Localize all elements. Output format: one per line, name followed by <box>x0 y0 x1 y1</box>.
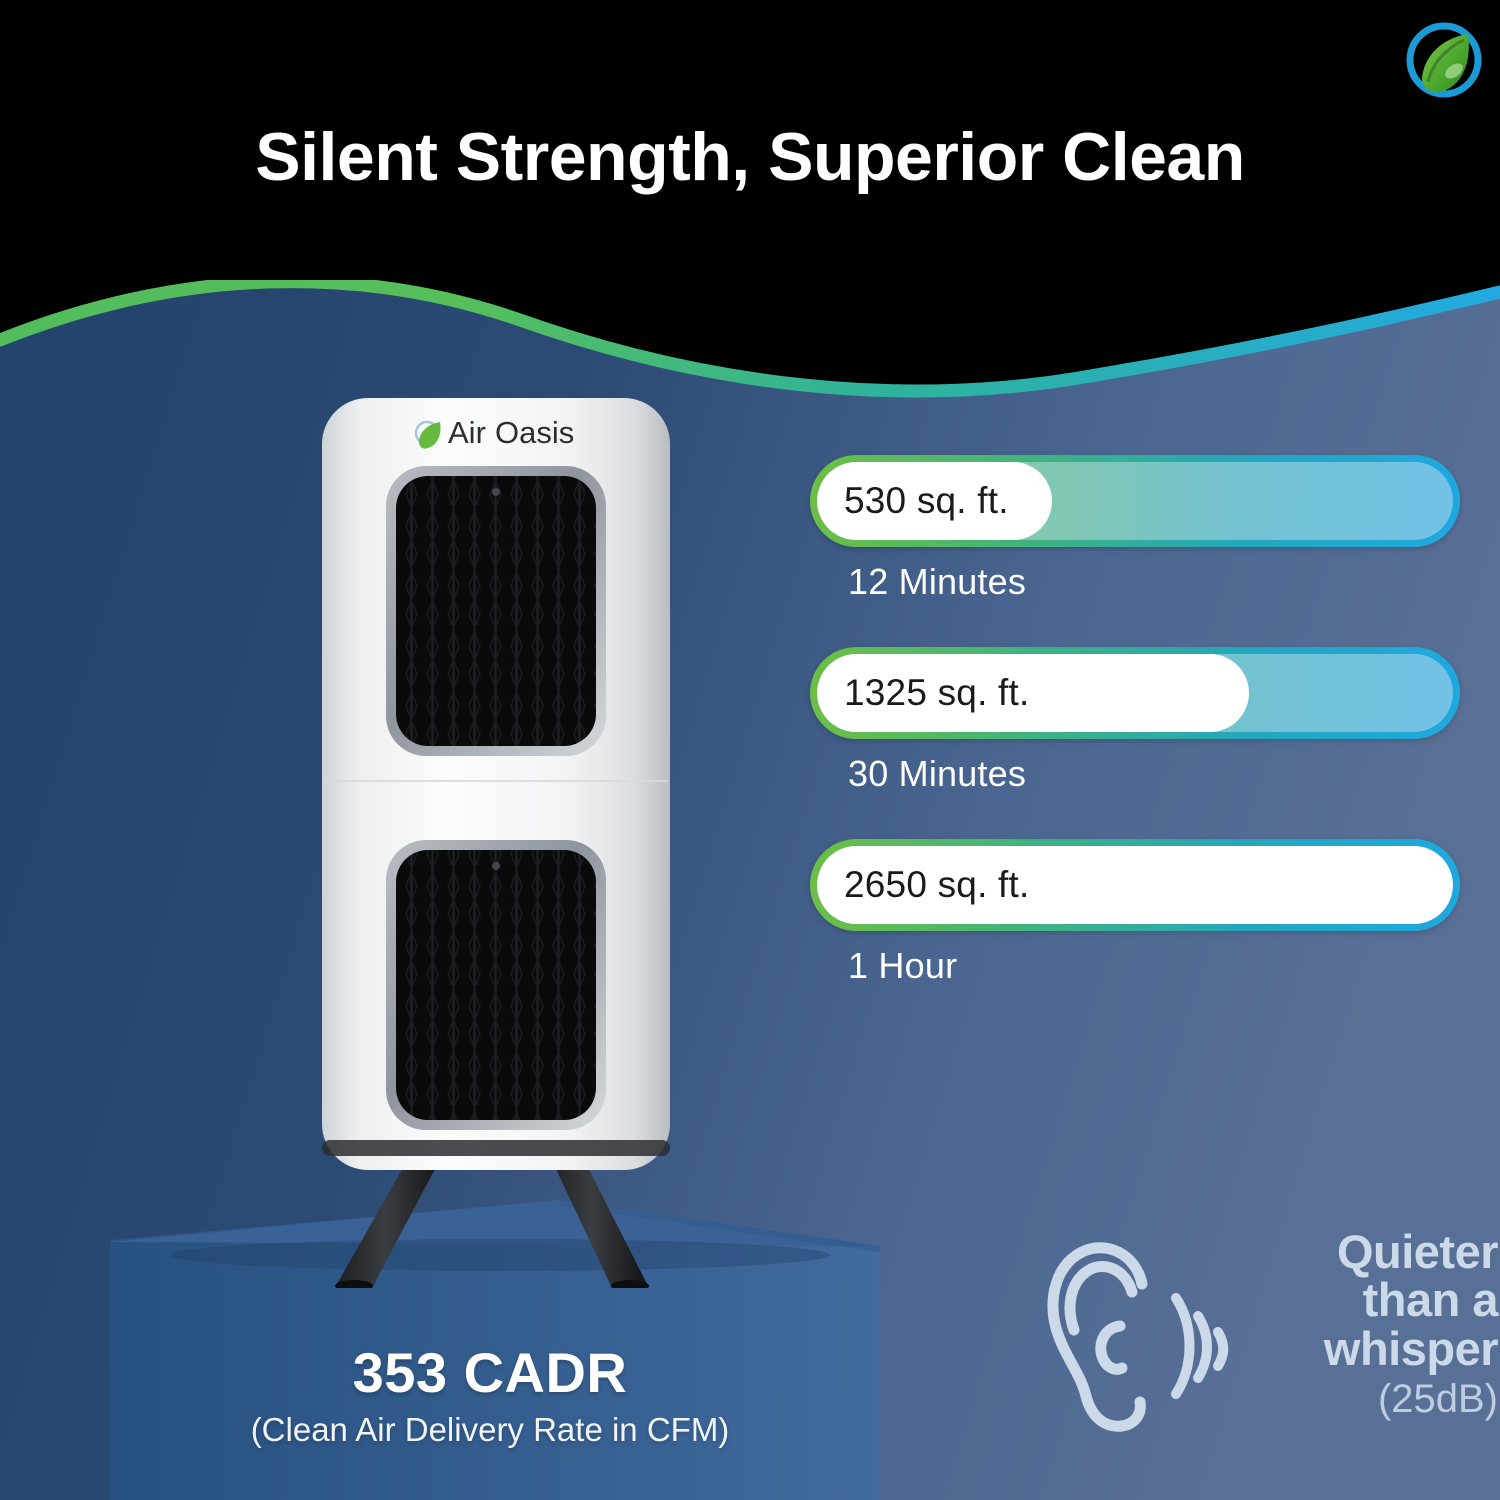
progress-bar-track-2[interactable]: 1325 sq. ft. <box>810 647 1460 739</box>
decibel-value: (25dB) <box>1252 1377 1498 1422</box>
coverage-value-2: 1325 sq. ft. <box>844 647 1029 739</box>
leaf-circle-logo-icon <box>1398 14 1490 106</box>
upper-grille <box>386 466 606 756</box>
cadr-subtext: (Clean Air Delivery Rate in CFM) <box>160 1411 820 1449</box>
svg-text:Air: Air <box>448 415 486 450</box>
progress-bar-track-3[interactable]: 2650 sq. ft. <box>810 839 1460 931</box>
infographic-canvas: Silent Strength, Superior Clean <box>0 0 1500 1500</box>
progress-bar-track-1[interactable]: 530 sq. ft. <box>810 455 1460 547</box>
coverage-bar-row: 530 sq. ft. 12 Minutes <box>810 455 1470 603</box>
ear-sound-waves-icon <box>1040 1232 1240 1447</box>
coverage-bar-row: 1325 sq. ft. 30 Minutes <box>810 647 1470 795</box>
noise-level-text: Quieter than a whisper (25dB) <box>1252 1228 1498 1422</box>
coverage-bar-row: 2650 sq. ft. 1 Hour <box>810 839 1470 987</box>
coverage-bar-chart: 530 sq. ft. 12 Minutes 1325 sq. ft. 30 M… <box>810 455 1470 987</box>
lower-grille <box>386 840 606 1130</box>
quiet-line-2: than a <box>1252 1276 1498 1324</box>
cadr-callout: 353 CADR (Clean Air Delivery Rate in CFM… <box>160 1340 820 1449</box>
coverage-caption-1: 12 Minutes <box>848 561 1470 603</box>
coverage-caption-3: 1 Hour <box>848 945 1470 987</box>
noise-level-callout: Quieter than a whisper (25dB) <box>1040 1228 1490 1478</box>
coverage-value-1: 530 sq. ft. <box>844 455 1009 547</box>
product-image: Air Oasis <box>296 388 696 1288</box>
cadr-headline: 353 CADR <box>160 1340 820 1405</box>
svg-text:Oasis: Oasis <box>495 415 574 450</box>
quiet-line-1: Quieter <box>1252 1228 1498 1276</box>
coverage-value-3: 2650 sq. ft. <box>844 839 1029 931</box>
quiet-line-3: whisper <box>1252 1325 1498 1373</box>
coverage-caption-2: 30 Minutes <box>848 753 1470 795</box>
page-title: Silent Strength, Superior Clean <box>0 118 1500 196</box>
